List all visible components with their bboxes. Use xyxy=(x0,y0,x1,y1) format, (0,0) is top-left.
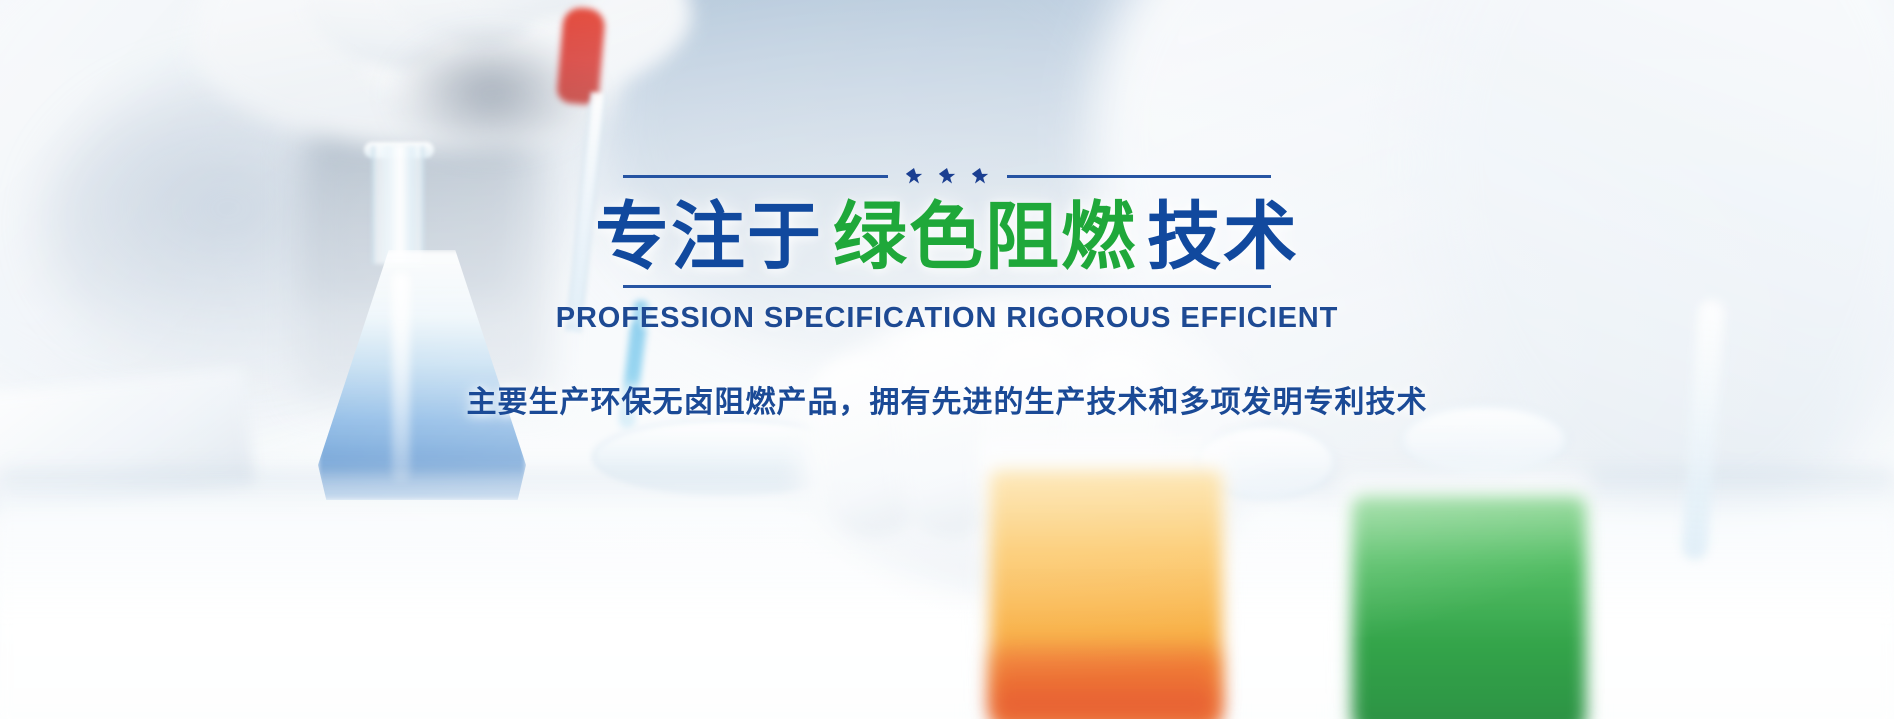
headline-part-3: 技术 xyxy=(1147,195,1299,278)
star-divider xyxy=(623,168,1271,185)
star-icon xyxy=(906,168,923,185)
hero-banner: 专注于绿色阻燃技术 PROFESSION SPECIFICATION RIGOR… xyxy=(0,0,1894,719)
page-title: 专注于绿色阻燃技术 xyxy=(595,195,1299,279)
subtitle-english: PROFESSION SPECIFICATION RIGOROUS EFFICI… xyxy=(556,302,1339,335)
tagline-chinese: 主要生产环保无卤阻燃产品，拥有先进的生产技术和多项发明专利技术 xyxy=(467,377,1428,421)
banner-content: 专注于绿色阻燃技术 PROFESSION SPECIFICATION RIGOR… xyxy=(0,0,1894,719)
divider-rule-right xyxy=(1007,175,1272,178)
star-icon xyxy=(939,168,956,185)
headline-part-2: 绿色阻燃 xyxy=(833,195,1137,278)
headline-part-1: 专注于 xyxy=(595,195,823,278)
divider-rule-left xyxy=(623,175,888,178)
divider-stars xyxy=(906,168,989,185)
star-icon xyxy=(972,168,989,185)
headline-underline xyxy=(623,285,1271,288)
